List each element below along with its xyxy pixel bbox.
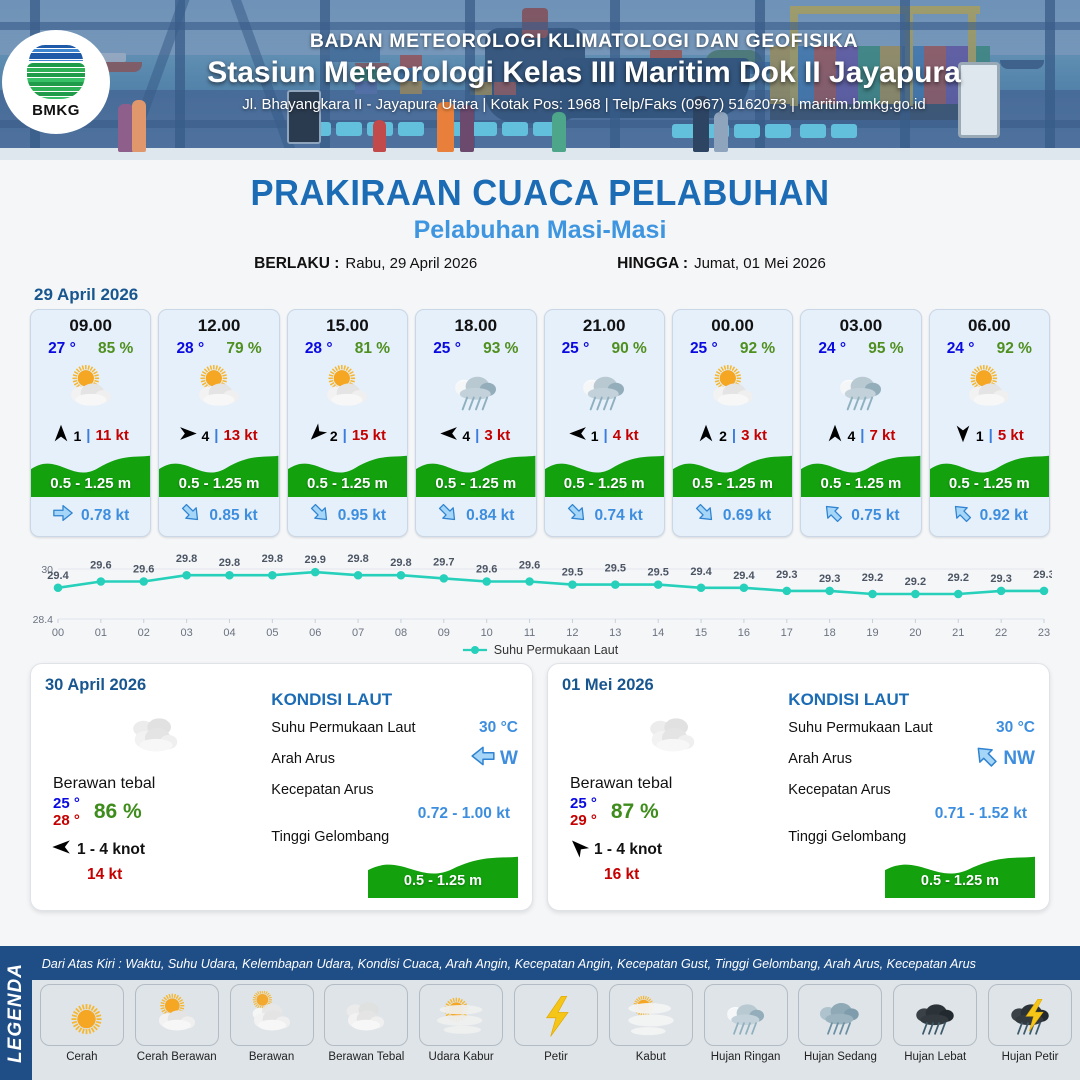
summary-temps: 25 ° 28 ° <box>53 795 80 829</box>
card-current-speed: 0.92 kt <box>980 507 1028 525</box>
sea-row-current-direction: Arah Arus W <box>271 743 518 775</box>
weather-cerah-icon <box>40 984 124 1046</box>
card-wind-speed: 11 kt <box>96 427 129 444</box>
legend-item-label: Petir <box>544 1051 568 1063</box>
legend-item: Berawan Tebal <box>322 984 410 1063</box>
sea-current-direction: NW <box>973 743 1035 775</box>
svg-text:29.5: 29.5 <box>562 567 583 579</box>
sea-row-label: Kecepatan Arus <box>271 782 373 798</box>
sea-row-sst: Suhu Permukaan Laut 30 °C <box>788 716 1035 740</box>
weather-berawan-tebal-icon <box>562 701 784 765</box>
card-time: 06.00 <box>930 310 1049 336</box>
sea-row-current-speed: Kecepatan Arus <box>271 778 518 802</box>
legend-item-label: Hujan Sedang <box>804 1051 877 1063</box>
card-temperature: 24 ° <box>947 340 975 358</box>
svg-text:17: 17 <box>781 627 793 639</box>
card-wave-band: 0.5 - 1.25 m <box>288 449 407 497</box>
card-current-row: 0.92 kt <box>930 497 1049 536</box>
card-wave-band: 0.5 - 1.25 m <box>31 449 150 497</box>
sea-row-value: 30 °C <box>996 719 1035 737</box>
daily-summary-panel: 30 April 2026 Berawan tebal 25 ° 28 ° 86… <box>30 663 533 911</box>
forecast-card-list: 09.00 27 ° 85 % 1 | 11 kt 0.5 - 1.25 m 0… <box>0 309 1080 537</box>
svg-text:29.8: 29.8 <box>262 553 283 565</box>
card-current-row: 0.75 kt <box>801 497 920 536</box>
forecast-card: 15.00 28 ° 81 % 2 | 15 kt 0.5 - 1.25 m 0… <box>287 309 408 537</box>
sea-row-value: NW <box>1003 748 1035 770</box>
sea-current-direction: W <box>470 743 518 775</box>
chart-legend-marker-icon <box>462 645 488 655</box>
card-wind-row: 2 | 15 kt <box>288 420 407 449</box>
card-wave-height: 0.5 - 1.25 m <box>416 475 535 492</box>
card-wind-row: 4 | 3 kt <box>416 420 535 449</box>
card-wind-row: 1 | 5 kt <box>930 420 1049 449</box>
current-direction-arrow-icon <box>973 743 999 775</box>
card-wave-height: 0.5 - 1.25 m <box>545 475 664 492</box>
sea-current-speed-value: 0.71 - 1.52 kt <box>784 805 1027 823</box>
terminal-seat <box>398 122 424 136</box>
svg-text:02: 02 <box>138 627 150 639</box>
card-wind-direction: 4 <box>201 428 209 444</box>
svg-text:07: 07 <box>352 627 364 639</box>
weather-petir-icon <box>514 984 598 1046</box>
svg-text:05: 05 <box>266 627 278 639</box>
svg-text:29.3: 29.3 <box>1033 569 1052 581</box>
bmkg-logo-body <box>27 63 85 99</box>
card-wind-row: 4 | 13 kt <box>159 420 278 449</box>
card-current-speed: 0.75 kt <box>851 507 899 525</box>
weather-cerah-berawan-icon <box>930 358 1049 420</box>
page-subtitle: Pelabuhan Masi-Masi <box>0 216 1080 245</box>
card-wind-separator: | <box>604 427 608 444</box>
forecast-card: 21.00 25 ° 90 % 1 | 4 kt 0.5 - 1.25 m 0.… <box>544 309 665 537</box>
legend-item: Hujan Sedang <box>797 984 885 1063</box>
card-time: 21.00 <box>545 310 664 336</box>
card-temperature: 25 ° <box>690 340 718 358</box>
svg-text:29.4: 29.4 <box>47 570 69 582</box>
legend-side-label: LEGENDA <box>5 963 27 1063</box>
card-wind-separator: | <box>989 427 993 444</box>
summary-temp-max: 28 ° <box>53 812 80 829</box>
sea-row-label: Suhu Permukaan Laut <box>788 720 932 736</box>
card-humidity: 95 % <box>868 340 903 358</box>
summary-left: 01 Mei 2026 Berawan tebal 25 ° 29 ° 87 %… <box>562 676 784 900</box>
summary-gust: 16 kt <box>562 866 784 884</box>
card-wind-row: 4 | 7 kt <box>801 420 920 449</box>
wind-direction-arrow-icon <box>570 837 587 862</box>
svg-text:29.5: 29.5 <box>605 563 626 575</box>
weather-hujan-ringan-icon <box>416 358 535 420</box>
legend-item: Kabut <box>607 984 695 1063</box>
card-wave-band: 0.5 - 1.25 m <box>416 449 535 497</box>
summary-wind: 1 - 4 knot <box>562 837 784 862</box>
legend-item-list: Cerah Cerah Berawan Berawan Berawan Teba… <box>32 984 1080 1063</box>
summary-wave-band: 0.5 - 1.25 m <box>885 836 1035 898</box>
chart-legend-label: Suhu Permukaan Laut <box>494 643 618 657</box>
svg-text:29.2: 29.2 <box>905 576 926 588</box>
weather-hujan-petir-icon <box>988 984 1072 1046</box>
terminal-floor <box>0 148 1080 160</box>
terminal-seat <box>471 122 497 136</box>
legend-item: Udara Kabur <box>417 984 505 1063</box>
svg-text:29.8: 29.8 <box>176 553 197 565</box>
hingga-cell: HINGGA : Jumat, 01 Mei 2026 <box>617 255 826 273</box>
summary-gust: 14 kt <box>45 866 267 884</box>
agency-name: BADAN METEOROLOGI KLIMATOLOGI DAN GEOFIS… <box>104 30 1064 53</box>
card-humidity: 81 % <box>355 340 390 358</box>
terminal-person <box>373 120 386 152</box>
svg-text:09: 09 <box>438 627 450 639</box>
page-title: PRAKIRAAN CUACA PELABUHAN <box>22 172 1059 214</box>
page-header: BMKG BADAN METEOROLOGI KLIMATOLOGI DAN G… <box>0 0 1080 160</box>
svg-text:29.6: 29.6 <box>133 564 154 576</box>
summary-condition: Berawan tebal <box>45 775 267 793</box>
svg-text:29.8: 29.8 <box>347 553 368 565</box>
terminal-seat <box>800 124 826 138</box>
summary-wind-range: 1 - 4 knot <box>77 841 145 859</box>
card-current-row: 0.78 kt <box>31 497 150 536</box>
weather-hujan-ringan-icon <box>704 984 788 1046</box>
card-humidity: 92 % <box>997 340 1032 358</box>
summary-condition: Berawan tebal <box>562 775 784 793</box>
summary-temp-min: 25 ° <box>570 795 597 812</box>
card-temperature: 28 ° <box>305 340 333 358</box>
svg-text:00: 00 <box>52 627 64 639</box>
svg-text:29.4: 29.4 <box>690 566 712 578</box>
svg-text:29.5: 29.5 <box>647 567 668 579</box>
summary-humidity: 87 % <box>611 800 659 824</box>
card-wind-separator: | <box>475 427 479 444</box>
card-temp-humidity: 25 ° 92 % <box>673 336 792 358</box>
weather-berawan-icon <box>230 984 314 1046</box>
svg-text:20: 20 <box>909 627 921 639</box>
card-wind-direction: 4 <box>462 428 470 444</box>
legend-note-bar: Dari Atas Kiri : Waktu, Suhu Udara, Kele… <box>32 946 1080 980</box>
card-wind-separator: | <box>343 427 347 444</box>
card-wind-speed: 4 kt <box>613 427 639 444</box>
sst-chart: 3028.429.40029.60129.60229.80329.80429.8… <box>28 549 1052 641</box>
summary-temp-min: 25 ° <box>53 795 80 812</box>
card-wind-direction: 4 <box>848 428 856 444</box>
legend-item-label: Hujan Petir <box>1002 1051 1059 1063</box>
card-wind-separator: | <box>732 427 736 444</box>
card-current-speed: 0.74 kt <box>595 507 643 525</box>
legend-item-label: Berawan Tebal <box>328 1051 404 1063</box>
card-wave-band: 0.5 - 1.25 m <box>673 449 792 497</box>
card-time: 18.00 <box>416 310 535 336</box>
svg-text:08: 08 <box>395 627 407 639</box>
daily-summary-row: 30 April 2026 Berawan tebal 25 ° 28 ° 86… <box>0 657 1080 911</box>
forecast-card: 18.00 25 ° 93 % 4 | 3 kt 0.5 - 1.25 m 0.… <box>415 309 536 537</box>
legend-item-label: Udara Kabur <box>429 1051 494 1063</box>
card-wave-band: 0.5 - 1.25 m <box>159 449 278 497</box>
card-wind-row: 2 | 3 kt <box>673 420 792 449</box>
forecast-day-label: 29 April 2026 <box>34 285 1080 305</box>
summary-humidity: 86 % <box>94 800 142 824</box>
title-area: PRAKIRAAN CUACA PELABUHAN Pelabuhan Masi… <box>0 160 1080 273</box>
card-humidity: 93 % <box>483 340 518 358</box>
svg-text:06: 06 <box>309 627 321 639</box>
wind-direction-arrow-icon <box>827 424 843 447</box>
station-name: Stasiun Meteorologi Kelas III Maritim Do… <box>104 56 1064 90</box>
current-direction-arrow-icon <box>309 502 331 529</box>
summary-temp-hum: 25 ° 28 ° 86 % <box>45 795 267 829</box>
svg-text:13: 13 <box>609 627 621 639</box>
svg-text:29.4: 29.4 <box>733 570 755 582</box>
sea-row-current-direction: Arah Arus NW <box>788 743 1035 775</box>
card-current-speed: 0.85 kt <box>209 507 257 525</box>
card-humidity: 90 % <box>611 340 646 358</box>
card-time: 00.00 <box>673 310 792 336</box>
card-time: 12.00 <box>159 310 278 336</box>
sea-row-value: 30 °C <box>479 719 518 737</box>
daily-summary-panel: 01 Mei 2026 Berawan tebal 25 ° 29 ° 87 %… <box>547 663 1050 911</box>
card-wind-speed: 5 kt <box>998 427 1024 444</box>
card-time: 15.00 <box>288 310 407 336</box>
forecast-card: 06.00 24 ° 92 % 1 | 5 kt 0.5 - 1.25 m 0.… <box>929 309 1050 537</box>
svg-text:12: 12 <box>566 627 578 639</box>
card-wind-direction: 2 <box>719 428 727 444</box>
sea-row-label: Arah Arus <box>788 751 852 767</box>
bmkg-logo-text: BMKG <box>32 102 80 119</box>
weather-udara-kabur-icon <box>419 984 503 1046</box>
svg-text:03: 03 <box>180 627 192 639</box>
hingga-label: HINGGA : <box>617 255 688 273</box>
legend-item: Hujan Ringan <box>702 984 790 1063</box>
legend-item-label: Cerah <box>66 1051 97 1063</box>
weather-berawan-tebal-icon <box>324 984 408 1046</box>
weather-kabut-icon <box>609 984 693 1046</box>
terminal-seat <box>765 124 791 138</box>
sea-row-sst: Suhu Permukaan Laut 30 °C <box>271 716 518 740</box>
card-wind-separator: | <box>214 427 218 444</box>
svg-text:21: 21 <box>952 627 964 639</box>
card-temp-humidity: 27 ° 85 % <box>31 336 150 358</box>
card-time: 09.00 <box>31 310 150 336</box>
card-wind-speed: 3 kt <box>484 427 510 444</box>
svg-text:10: 10 <box>481 627 493 639</box>
weather-cerah-berawan-icon <box>31 358 150 420</box>
card-current-row: 0.85 kt <box>159 497 278 536</box>
window-mullion-horizontal <box>0 22 1080 30</box>
sea-row-label: Suhu Permukaan Laut <box>271 720 415 736</box>
svg-text:29.6: 29.6 <box>90 560 111 572</box>
summary-date: 01 Mei 2026 <box>562 676 784 695</box>
card-current-speed: 0.78 kt <box>81 507 129 525</box>
card-current-row: 0.69 kt <box>673 497 792 536</box>
card-wave-height: 0.5 - 1.25 m <box>930 475 1049 492</box>
card-current-row: 0.74 kt <box>545 497 664 536</box>
card-wind-row: 1 | 11 kt <box>31 420 150 449</box>
card-wave-height: 0.5 - 1.25 m <box>288 475 407 492</box>
svg-text:29.6: 29.6 <box>519 560 540 572</box>
card-wave-height: 0.5 - 1.25 m <box>31 475 150 492</box>
bmkg-logo-arc <box>29 45 83 61</box>
svg-text:22: 22 <box>995 627 1007 639</box>
summary-wave-height: 0.5 - 1.25 m <box>885 873 1035 889</box>
legend-item-label: Cerah Berawan <box>137 1051 217 1063</box>
header-text-block: BADAN METEOROLOGI KLIMATOLOGI DAN GEOFIS… <box>104 30 1064 113</box>
sea-condition-title: KONDISI LAUT <box>271 690 518 710</box>
card-temp-humidity: 24 ° 92 % <box>930 336 1049 358</box>
terminal-seat <box>502 122 528 136</box>
weather-berawan-tebal-icon <box>45 701 267 765</box>
wind-direction-arrow-icon <box>53 424 69 447</box>
svg-text:29.7: 29.7 <box>433 556 454 568</box>
berlaku-value: Rabu, 29 April 2026 <box>345 255 477 272</box>
forecast-card: 12.00 28 ° 79 % 4 | 13 kt 0.5 - 1.25 m 0… <box>158 309 279 537</box>
legend-section: LEGENDA Dari Atas Kiri : Waktu, Suhu Uda… <box>0 946 1080 1080</box>
card-temperature: 25 ° <box>433 340 461 358</box>
summary-temps: 25 ° 29 ° <box>570 795 597 829</box>
svg-text:28.4: 28.4 <box>33 614 54 626</box>
card-wave-height: 0.5 - 1.25 m <box>159 475 278 492</box>
terminal-person <box>714 112 728 152</box>
legend-note: Dari Atas Kiri : Waktu, Suhu Udara, Kele… <box>32 956 976 971</box>
card-time: 03.00 <box>801 310 920 336</box>
sst-chart-svg: 3028.429.40029.60129.60229.80329.80429.8… <box>28 549 1052 641</box>
weather-hujan-ringan-icon <box>801 358 920 420</box>
chart-legend: Suhu Permukaan Laut <box>0 643 1080 657</box>
svg-text:18: 18 <box>824 627 836 639</box>
wind-direction-arrow-icon <box>309 424 325 447</box>
weather-cerah-berawan-icon <box>135 984 219 1046</box>
svg-text:19: 19 <box>866 627 878 639</box>
svg-text:29.2: 29.2 <box>948 572 969 584</box>
summary-left: 30 April 2026 Berawan tebal 25 ° 28 ° 86… <box>45 676 267 900</box>
current-direction-arrow-icon <box>52 502 74 529</box>
card-temp-humidity: 24 ° 95 % <box>801 336 920 358</box>
current-direction-arrow-icon <box>470 743 496 775</box>
forecast-card: 00.00 25 ° 92 % 2 | 3 kt 0.5 - 1.25 m 0.… <box>672 309 793 537</box>
summary-date: 30 April 2026 <box>45 676 267 695</box>
current-direction-arrow-icon <box>437 502 459 529</box>
card-wind-speed: 15 kt <box>352 427 386 444</box>
validity-row: BERLAKU : Rabu, 29 April 2026 HINGGA : J… <box>0 255 1080 273</box>
card-wind-direction: 1 <box>591 428 599 444</box>
sea-row-value: W <box>500 748 518 770</box>
station-contact: Jl. Bhayangkara II - Jayapura Utara | Ko… <box>104 96 1064 113</box>
weather-cerah-berawan-icon <box>288 358 407 420</box>
berlaku-label: BERLAKU : <box>254 255 339 273</box>
card-current-row: 0.95 kt <box>288 497 407 536</box>
card-wind-speed: 3 kt <box>741 427 767 444</box>
svg-text:23: 23 <box>1038 627 1050 639</box>
wind-direction-arrow-icon <box>180 424 196 447</box>
summary-temp-max: 29 ° <box>570 812 597 829</box>
svg-text:16: 16 <box>738 627 750 639</box>
card-humidity: 85 % <box>98 340 133 358</box>
wind-direction-arrow-icon <box>441 424 457 447</box>
summary-wave-height: 0.5 - 1.25 m <box>368 873 518 889</box>
sea-current-speed-value: 0.72 - 1.00 kt <box>267 805 510 823</box>
svg-text:14: 14 <box>652 627 664 639</box>
current-direction-arrow-icon <box>566 502 588 529</box>
card-temp-humidity: 25 ° 90 % <box>545 336 664 358</box>
card-wave-band: 0.5 - 1.25 m <box>930 449 1049 497</box>
legend-item: Petir <box>512 984 600 1063</box>
card-current-speed: 0.69 kt <box>723 507 771 525</box>
legend-item: Cerah <box>38 984 126 1063</box>
legend-item: Berawan <box>228 984 316 1063</box>
wind-direction-arrow-icon <box>570 424 586 447</box>
berlaku-cell: BERLAKU : Rabu, 29 April 2026 <box>254 255 477 273</box>
summary-wind-range: 1 - 4 knot <box>594 841 662 859</box>
card-wind-direction: 1 <box>976 428 984 444</box>
card-temperature: 28 ° <box>176 340 204 358</box>
card-temperature: 25 ° <box>562 340 590 358</box>
forecast-card: 09.00 27 ° 85 % 1 | 11 kt 0.5 - 1.25 m 0… <box>30 309 151 537</box>
card-humidity: 92 % <box>740 340 775 358</box>
current-direction-arrow-icon <box>822 502 844 529</box>
weather-hujan-sedang-icon <box>798 984 882 1046</box>
current-direction-arrow-icon <box>951 502 973 529</box>
summary-right: KONDISI LAUT Suhu Permukaan Laut 30 °C A… <box>267 676 518 900</box>
svg-text:15: 15 <box>695 627 707 639</box>
card-temp-humidity: 25 ° 93 % <box>416 336 535 358</box>
sea-condition-title: KONDISI LAUT <box>788 690 1035 710</box>
svg-text:29.8: 29.8 <box>219 557 240 569</box>
legend-item-label: Hujan Ringan <box>711 1051 781 1063</box>
card-temperature: 24 ° <box>818 340 846 358</box>
card-wind-direction: 2 <box>330 428 338 444</box>
svg-text:11: 11 <box>524 627 535 639</box>
svg-text:01: 01 <box>95 627 107 639</box>
terminal-person <box>552 112 566 152</box>
card-humidity: 79 % <box>226 340 261 358</box>
card-wave-height: 0.5 - 1.25 m <box>801 475 920 492</box>
card-wind-speed: 7 kt <box>870 427 896 444</box>
sea-row-label: Kecepatan Arus <box>788 782 890 798</box>
summary-wave-band: 0.5 - 1.25 m <box>368 836 518 898</box>
card-wind-separator: | <box>86 427 90 444</box>
summary-right: KONDISI LAUT Suhu Permukaan Laut 30 °C A… <box>784 676 1035 900</box>
card-wave-band: 0.5 - 1.25 m <box>545 449 664 497</box>
legend-item-label: Berawan <box>249 1051 294 1063</box>
weather-cerah-berawan-icon <box>673 358 792 420</box>
terminal-seat <box>831 124 857 138</box>
svg-text:29.3: 29.3 <box>776 569 797 581</box>
weather-hujan-lebat-icon <box>893 984 977 1046</box>
bmkg-logo: BMKG <box>2 30 110 134</box>
svg-text:29.9: 29.9 <box>305 554 326 566</box>
legend-item-label: Hujan Lebat <box>904 1051 966 1063</box>
sea-row-current-speed: Kecepatan Arus <box>788 778 1035 802</box>
card-current-speed: 0.95 kt <box>338 507 386 525</box>
current-direction-arrow-icon <box>180 502 202 529</box>
legend-item: Hujan Lebat <box>891 984 979 1063</box>
terminal-seat <box>336 122 362 136</box>
card-wave-band: 0.5 - 1.25 m <box>801 449 920 497</box>
svg-text:04: 04 <box>223 627 235 639</box>
card-wind-direction: 1 <box>74 428 82 444</box>
current-direction-arrow-icon <box>694 502 716 529</box>
card-wind-row: 1 | 4 kt <box>545 420 664 449</box>
card-wave-height: 0.5 - 1.25 m <box>673 475 792 492</box>
summary-temp-hum: 25 ° 29 ° 87 % <box>562 795 784 829</box>
card-current-row: 0.84 kt <box>416 497 535 536</box>
card-temp-humidity: 28 ° 79 % <box>159 336 278 358</box>
weather-cerah-berawan-icon <box>159 358 278 420</box>
hingga-value: Jumat, 01 Mei 2026 <box>694 255 826 272</box>
card-current-speed: 0.84 kt <box>466 507 514 525</box>
svg-text:29.2: 29.2 <box>862 572 883 584</box>
legend-item: Cerah Berawan <box>133 984 221 1063</box>
wind-direction-arrow-icon <box>955 424 971 447</box>
legend-side-tab: LEGENDA <box>0 946 32 1080</box>
summary-wind: 1 - 4 knot <box>45 837 267 862</box>
forecast-card: 03.00 24 ° 95 % 4 | 7 kt 0.5 - 1.25 m 0.… <box>800 309 921 537</box>
wind-direction-arrow-icon <box>53 837 70 862</box>
